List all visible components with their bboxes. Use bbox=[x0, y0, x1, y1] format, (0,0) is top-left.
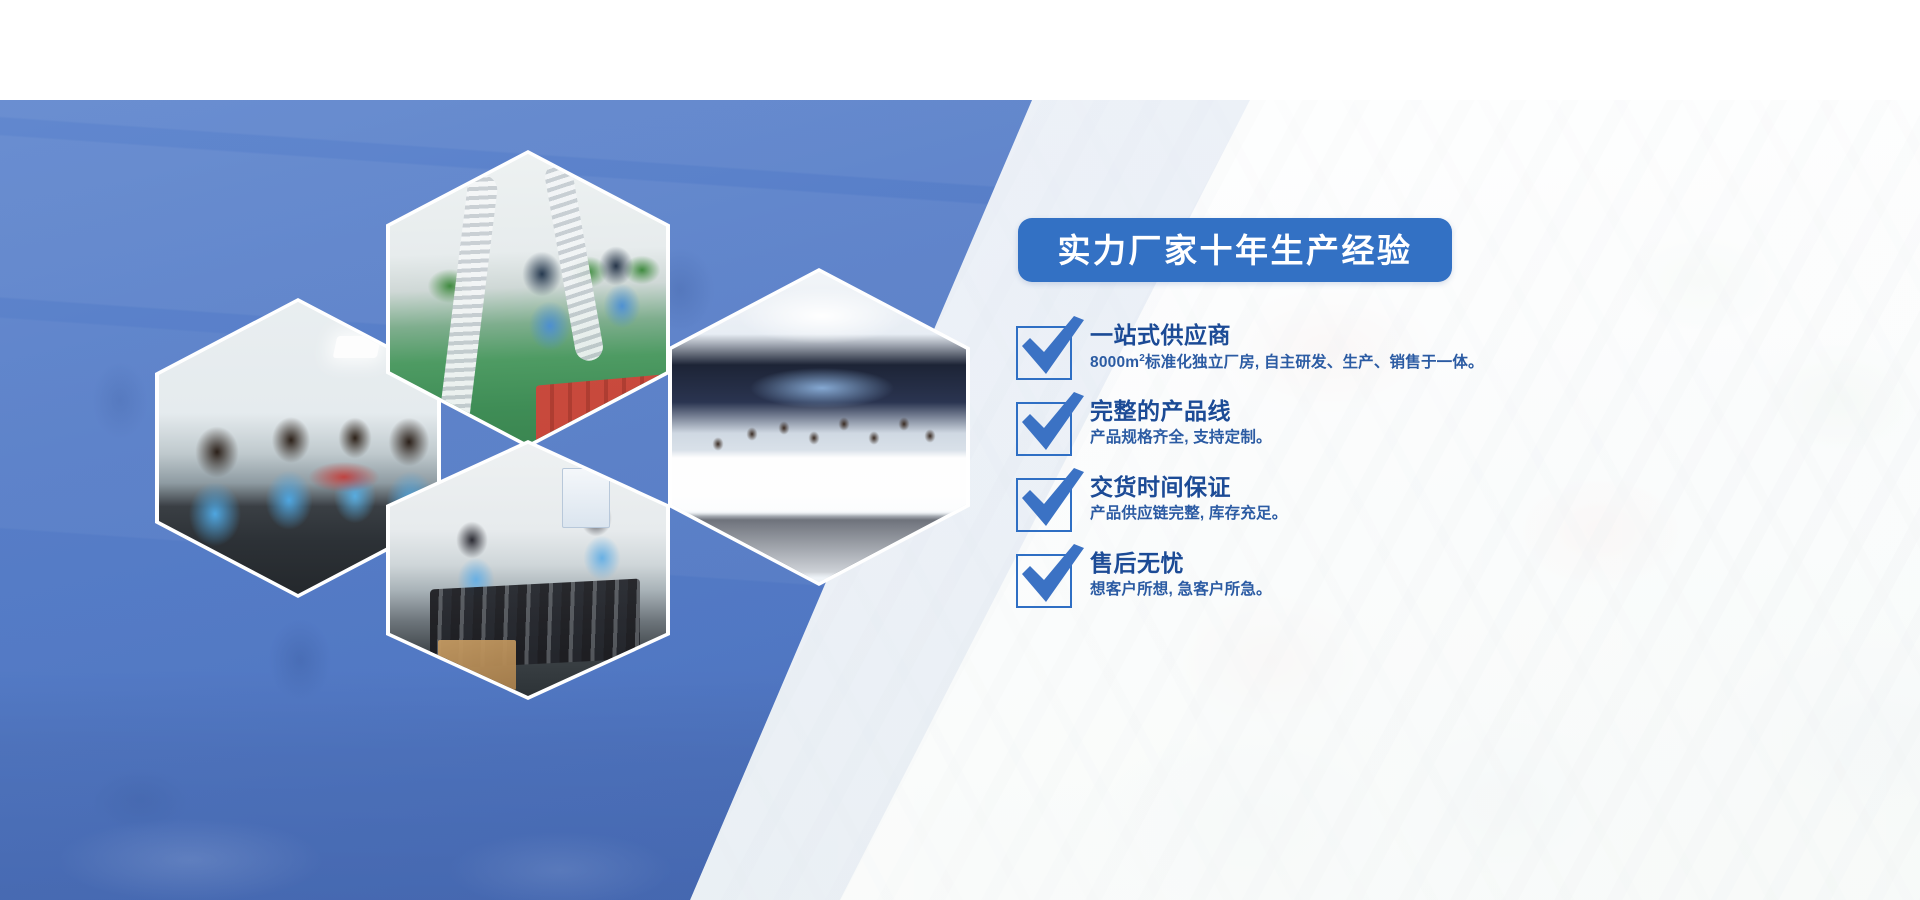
feature-item-4: 售后无忧 想客户所想, 急客户所急。 bbox=[1016, 550, 1816, 626]
banner-title-pill: 实力厂家十年生产经验 bbox=[1018, 218, 1452, 282]
feature-title-2: 完整的产品线 bbox=[1090, 398, 1272, 425]
feature-text-4: 售后无忧 想客户所想, 急客户所急。 bbox=[1090, 550, 1272, 601]
ceiling-lamp bbox=[333, 336, 382, 358]
feature-text-1: 一站式供应商 8000m2标准化独立厂房, 自主研发、生产、销售于一体。 bbox=[1090, 322, 1484, 374]
red-tray bbox=[309, 462, 379, 492]
feature-title-4: 售后无忧 bbox=[1090, 550, 1272, 577]
feature-desc-1: 8000m2标准化独立厂房, 自主研发、生产、销售于一体。 bbox=[1090, 352, 1484, 374]
feature-item-1: 一站式供应商 8000m2标准化独立厂房, 自主研发、生产、销售于一体。 bbox=[1016, 322, 1816, 398]
checkmark-icon-wrap-4 bbox=[1016, 554, 1076, 612]
checkmark-icon-wrap-3 bbox=[1016, 478, 1076, 536]
feature-text-2: 完整的产品线 产品规格齐全, 支持定制。 bbox=[1090, 398, 1272, 449]
checkmark-box-4 bbox=[1016, 554, 1072, 608]
checkmark-icon-wrap-2 bbox=[1016, 402, 1076, 460]
checkmark-icon-wrap-1 bbox=[1016, 326, 1076, 384]
feature-title-3: 交货时间保证 bbox=[1090, 474, 1287, 501]
feature-desc-3: 产品供应链完整, 库存充足。 bbox=[1090, 504, 1287, 525]
top-white-strip bbox=[0, 0, 1920, 100]
wall-notice-board bbox=[562, 468, 610, 528]
feature-list: 一站式供应商 8000m2标准化独立厂房, 自主研发、生产、销售于一体。 完整的… bbox=[1016, 322, 1816, 626]
banner-stage: 实力厂家十年生产经验 一站式供应商 8000m2标准化独立厂房, 自主研发、生产… bbox=[0, 0, 1920, 900]
checkmark-box-1 bbox=[1016, 326, 1072, 380]
feature-title-1: 一站式供应商 bbox=[1090, 322, 1484, 349]
feature-item-3: 交货时间保证 产品供应链完整, 库存充足。 bbox=[1016, 474, 1816, 550]
feature-item-2: 完整的产品线 产品规格齐全, 支持定制。 bbox=[1016, 398, 1816, 474]
feature-desc-2: 产品规格齐全, 支持定制。 bbox=[1090, 428, 1272, 449]
feature-desc-4: 想客户所想, 急客户所急。 bbox=[1090, 580, 1272, 601]
feature-text-3: 交货时间保证 产品供应链完整, 库存充足。 bbox=[1090, 474, 1287, 525]
checkmark-box-2 bbox=[1016, 402, 1072, 456]
checkmark-box-3 bbox=[1016, 478, 1072, 532]
banner-title: 实力厂家十年生产经验 bbox=[1058, 234, 1413, 267]
